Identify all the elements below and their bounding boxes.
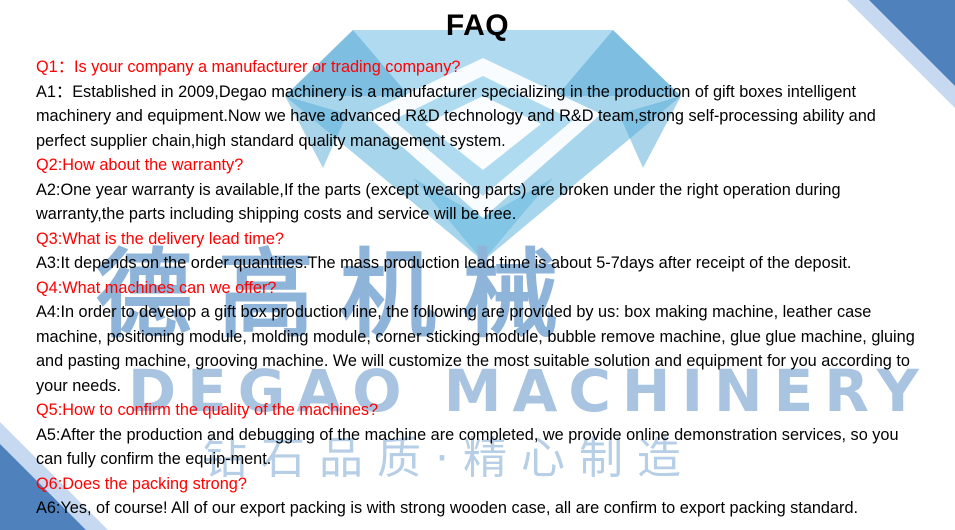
faq-answer: A5:After the production and debugging of… bbox=[36, 423, 920, 472]
faq-answer: A6:Yes, of course! All of our export pac… bbox=[36, 496, 920, 521]
faq-slide: 德高机械 DEGAO MACHINERY 钻石品质·精心制造 FAQ Q1：Is… bbox=[0, 0, 955, 530]
faq-list: Q1：Is your company a manufacturer or tra… bbox=[36, 55, 920, 521]
faq-answer: A2:One year warranty is available,If the… bbox=[36, 178, 920, 227]
faq-question: Q5:How to confirm the quality of the mac… bbox=[36, 398, 920, 423]
faq-question: Q3:What is the delivery lead time? bbox=[36, 227, 920, 252]
faq-question: Q6:Does the packing strong? bbox=[36, 472, 920, 497]
faq-answer: A3:It depends on the order quantities.Th… bbox=[36, 251, 920, 276]
page-title: FAQ bbox=[0, 9, 955, 43]
faq-answer: A4:In order to develop a gift box produc… bbox=[36, 300, 920, 398]
faq-question: Q2:How about the warranty? bbox=[36, 153, 920, 178]
faq-question: Q1：Is your company a manufacturer or tra… bbox=[36, 55, 920, 80]
faq-answer: A1：Established in 2009,Degao machinery i… bbox=[36, 80, 920, 154]
faq-question: Q4:What machines can we offer? bbox=[36, 276, 920, 301]
